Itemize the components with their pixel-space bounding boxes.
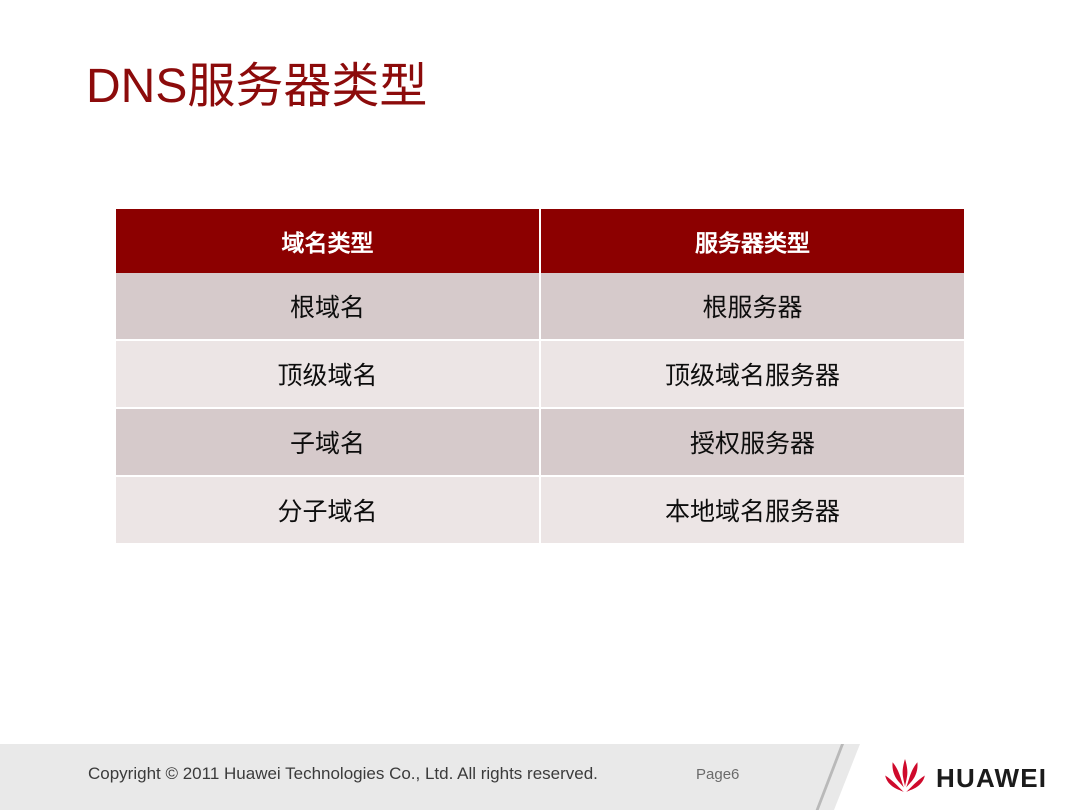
copyright-text: Copyright © 2011 Huawei Technologies Co.…: [88, 764, 598, 784]
table-header: 域名类型 服务器类型: [116, 209, 964, 273]
table-cell-server-type: 根服务器: [540, 273, 964, 340]
table-cell-domain-type: 分子域名: [116, 476, 540, 544]
table-row: 子域名 授权服务器: [116, 408, 964, 476]
table-cell-server-type: 顶级域名服务器: [540, 340, 964, 408]
page-number: Page6: [696, 766, 739, 783]
slide: DNS服务器类型 域名类型 服务器类型 根域名 根服务器 顶级域名 顶级域名服务…: [0, 0, 1080, 810]
table-cell-domain-type: 根域名: [116, 273, 540, 340]
table-cell-server-type: 本地域名服务器: [540, 476, 964, 544]
table-cell-domain-type: 顶级域名: [116, 340, 540, 408]
table-cell-domain-type: 子域名: [116, 408, 540, 476]
table-body: 根域名 根服务器 顶级域名 顶级域名服务器 子域名 授权服务器 分子域名 本地域…: [116, 273, 964, 544]
table-row: 顶级域名 顶级域名服务器: [116, 340, 964, 408]
table-header-cell-domain-type: 域名类型: [116, 209, 540, 273]
table-row: 根域名 根服务器: [116, 273, 964, 340]
huawei-flower-icon: [884, 759, 926, 797]
dns-server-type-table: 域名类型 服务器类型 根域名 根服务器 顶级域名 顶级域名服务器 子域名 授权服…: [116, 209, 964, 545]
table-row: 分子域名 本地域名服务器: [116, 476, 964, 544]
table-header-cell-server-type: 服务器类型: [540, 209, 964, 273]
page-title: DNS服务器类型: [86, 58, 427, 116]
table-cell-server-type: 授权服务器: [540, 408, 964, 476]
slide-footer: Copyright © 2011 Huawei Technologies Co.…: [0, 744, 1080, 810]
huawei-logo-text: HUAWEI: [936, 763, 1047, 794]
huawei-logo: HUAWEI: [884, 758, 1054, 798]
table-header-row: 域名类型 服务器类型: [116, 209, 964, 273]
